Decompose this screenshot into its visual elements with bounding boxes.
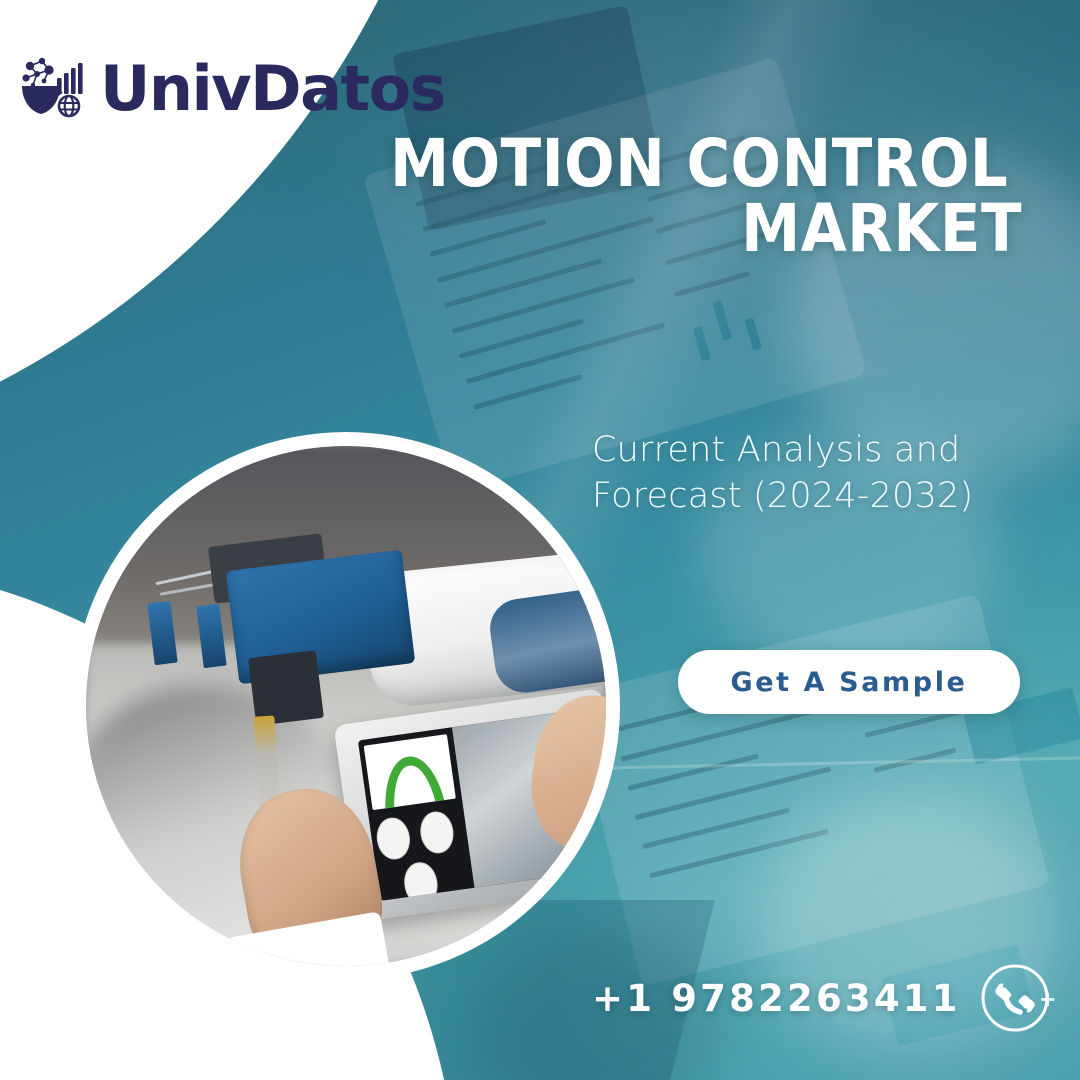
- get-a-sample-button-label: Get A Sample: [731, 667, 968, 698]
- univdatos-network-chart-globe-logo-icon: [18, 56, 90, 122]
- document-bar: [744, 318, 761, 351]
- get-a-sample-button[interactable]: Get A Sample: [678, 650, 1020, 714]
- production-gauge-card: [364, 734, 456, 810]
- background-desk-edge: [560, 757, 1080, 771]
- title-line-2: MARKET: [382, 197, 1022, 262]
- phone-handset-circle-icon: [979, 962, 1051, 1034]
- hero-image-photo: [86, 446, 606, 966]
- production-gauge-arc: [378, 753, 446, 811]
- hero-image-circle: [72, 432, 620, 980]
- marketing-banner: UnivDatos MOTION CONTROL MARKET Current …: [0, 0, 1080, 1080]
- brand-logo[interactable]: UnivDatos: [18, 56, 445, 122]
- phone-number: +1 9782263411: [592, 977, 961, 1020]
- dial-gauge: [374, 815, 412, 861]
- document-bar: [693, 326, 711, 361]
- contact-phone[interactable]: +1 9782263411: [592, 962, 1051, 1034]
- gripper-jaw: [249, 650, 324, 725]
- dial-gauge: [418, 809, 456, 855]
- document-bar: [712, 300, 732, 341]
- title-line-1: MOTION CONTROL: [382, 132, 1022, 197]
- subtitle: Current Analysis and Forecast (2024-2032…: [592, 428, 1022, 519]
- brand-name: UnivDatos: [100, 58, 445, 120]
- page-title: MOTION CONTROL MARKET: [382, 132, 1022, 261]
- dial-gauge: [402, 860, 440, 900]
